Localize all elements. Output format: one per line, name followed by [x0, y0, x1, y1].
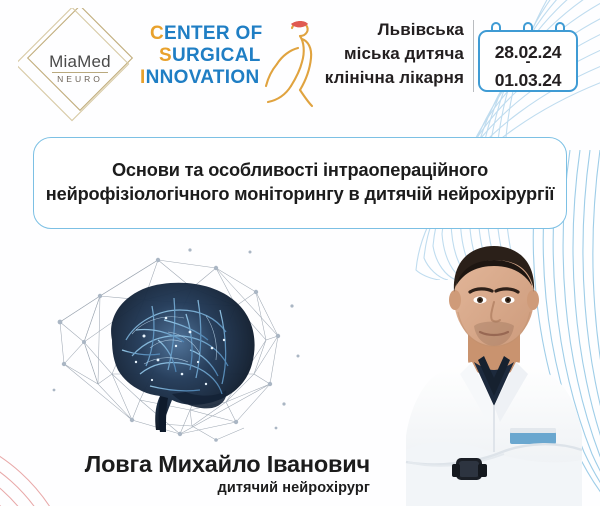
csi-cap-c: C — [150, 23, 164, 44]
title-box: Основи та особливості інтраопераційного … — [33, 137, 567, 229]
csi-cap-s: S — [159, 45, 172, 66]
hospital-line-3: клінічна лікарня — [274, 66, 464, 90]
miamed-wordmark: MiaMed — [18, 52, 142, 72]
miamed-logo[interactable]: MiaMed NEURO — [18, 8, 142, 128]
speaker-role: дитячий нейрохірург — [40, 480, 370, 496]
csi-wordmark: CENTER OF SURGICAL INNOVATION — [140, 24, 270, 87]
date-end: 01.03.24 — [478, 70, 578, 91]
csi-line2-rest: URGICAL — [172, 45, 261, 66]
page-title: Основи та особливості інтраопераційного … — [44, 159, 556, 206]
hospital-name: Львівська міська дитяча клінічна лікарня — [274, 18, 464, 90]
date-separator: - — [478, 58, 578, 66]
hospital-line-2: міська дитяча — [274, 42, 464, 66]
hospital-line-1: Львівська — [274, 18, 464, 42]
miamed-subtitle: NEURO — [18, 74, 142, 84]
miamed-rule — [52, 72, 108, 73]
speaker-name: Ловга Михайло Іванович — [40, 452, 370, 477]
header: MiaMed NEURO CENTER OF SURGICAL INNOVATI… — [0, 0, 600, 122]
csi-line3-rest: NNOVATION — [146, 67, 260, 88]
poster-canvas: MiaMed NEURO CENTER OF SURGICAL INNOVATI… — [0, 0, 600, 506]
speaker-block: Ловга Михайло Іванович дитячий нейрохіру… — [40, 452, 370, 496]
header-divider — [473, 20, 475, 92]
calendar-icon: 28.02.24 - 01.03.24 — [478, 22, 582, 96]
brain-network-illustration — [40, 244, 306, 450]
speaker-photo — [382, 236, 600, 506]
csi-line1-rest: ENTER OF — [164, 23, 262, 44]
